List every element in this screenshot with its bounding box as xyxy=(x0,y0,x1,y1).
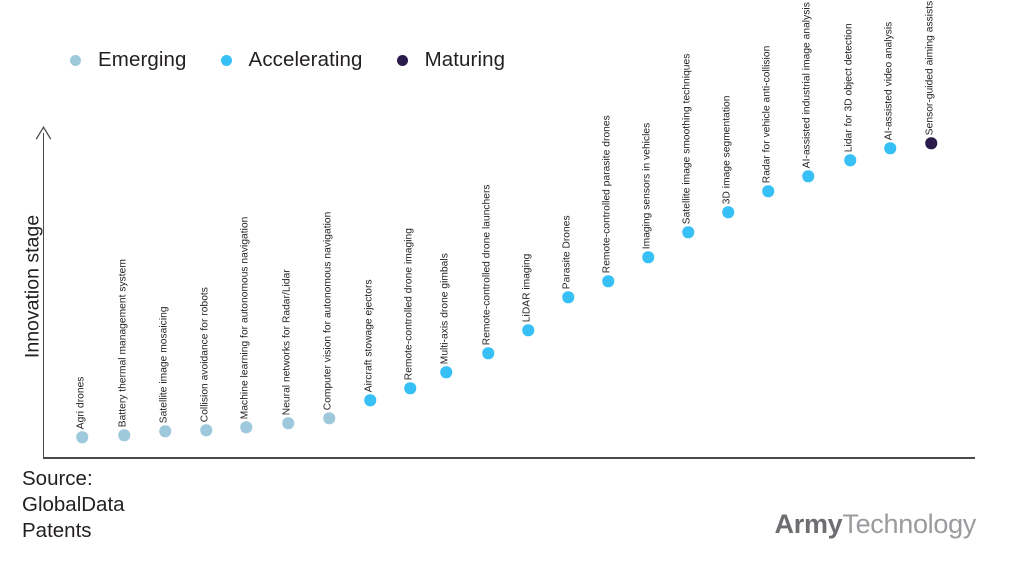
data-point-label: Computer vision for autonomous navigatio… xyxy=(323,211,333,410)
data-point-dot-icon xyxy=(802,170,814,182)
data-point-label: 3D image segmentation xyxy=(722,95,732,204)
data-point-dot-icon xyxy=(522,324,534,336)
data-point-dot-icon xyxy=(925,137,937,149)
data-point-dot-icon xyxy=(282,417,294,429)
data-point-label: Neural networks for Radar/Lidar xyxy=(282,269,292,415)
data-point-label: Multi-axis drone gimbals xyxy=(440,253,450,364)
data-point-dot-icon xyxy=(682,226,694,238)
data-point-label: Remote-controlled parasite drones xyxy=(602,115,612,273)
data-point-dot-icon xyxy=(844,154,856,166)
data-point-dot-icon xyxy=(240,421,252,433)
data-point-label: Sensor-guided aiming assists xyxy=(925,1,935,135)
data-point-label: Remote-controlled drone launchers xyxy=(482,184,492,345)
brand-name-secondary: Technology xyxy=(842,509,976,539)
data-point-dot-icon xyxy=(323,412,335,424)
data-point-label: LiDAR imaging xyxy=(522,253,532,322)
data-point-dot-icon xyxy=(562,291,574,303)
data-point-label: Satellite image smoothing techniques xyxy=(682,53,692,224)
data-point-label: Satellite image mosaicing xyxy=(159,306,169,423)
data-point-dot-icon xyxy=(159,425,171,437)
data-point-label: AI-assisted industrial image analysis xyxy=(802,2,812,168)
data-point-dot-icon xyxy=(642,251,654,263)
data-point-label: Radar for vehicle anti-collision xyxy=(762,46,772,184)
brand-name-primary: Army xyxy=(775,509,843,539)
data-point-dot-icon xyxy=(602,275,614,287)
data-point-dot-icon xyxy=(76,431,88,443)
data-point-dot-icon xyxy=(762,185,774,197)
data-point-dot-icon xyxy=(722,206,734,218)
x-axis-line xyxy=(43,457,975,459)
data-point-label: Machine learning for autonomous navigati… xyxy=(240,216,250,419)
data-point-label: Parasite Drones xyxy=(562,215,572,289)
scatter-plot: Innovation stage Agri dronesBattery ther… xyxy=(0,0,1024,576)
y-axis-title: Innovation stage xyxy=(22,187,45,387)
data-point-label: Aircraft stowage ejectors xyxy=(364,279,374,392)
data-point-dot-icon xyxy=(118,429,130,441)
data-point-label: Imaging sensors in vehicles xyxy=(642,123,652,250)
data-point-dot-icon xyxy=(482,347,494,359)
data-point-label: Lidar for 3D object detection xyxy=(844,23,854,152)
data-point-dot-icon xyxy=(404,382,416,394)
data-point-dot-icon xyxy=(364,394,376,406)
brand-logo: ArmyTechnology xyxy=(775,509,976,540)
data-point-label: Agri drones xyxy=(76,376,86,429)
data-point-label: AI-assisted video analysis xyxy=(884,21,894,140)
y-axis-arrow-icon xyxy=(35,126,52,140)
data-point-dot-icon xyxy=(884,142,896,154)
data-point-label: Remote-controlled drone imaging xyxy=(404,228,414,380)
data-point-label: Battery thermal management system xyxy=(118,259,128,427)
data-point-dot-icon xyxy=(440,366,452,378)
data-point-label: Collision avoidance for robots xyxy=(200,287,210,422)
source-note: Source: GlobalData Patents xyxy=(22,466,125,543)
data-point-dot-icon xyxy=(200,424,212,436)
